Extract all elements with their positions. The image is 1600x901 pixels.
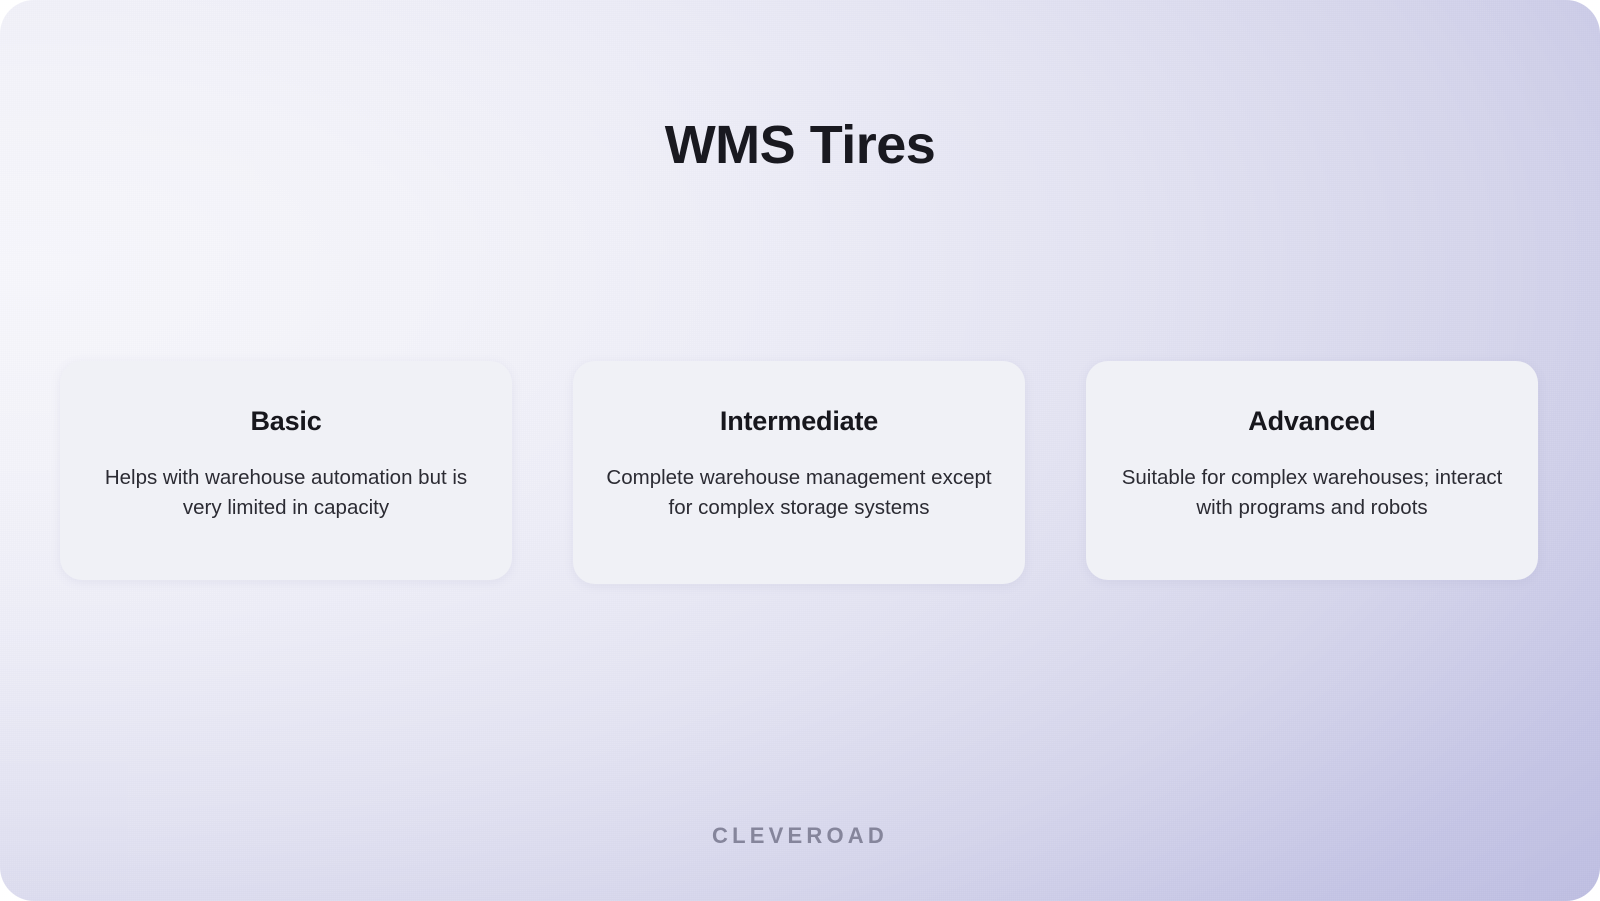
tier-card-description: Suitable for complex warehouses; interac… (1114, 463, 1510, 523)
footer: CLEVEROAD (0, 823, 1600, 849)
tier-card-list: Basic Helps with warehouse automation bu… (60, 361, 1538, 584)
tier-card-title: Advanced (1114, 407, 1510, 437)
tier-card-advanced: Advanced Suitable for complex warehouses… (1086, 361, 1538, 580)
tier-card-title: Basic (88, 407, 484, 437)
cleveroad-logo: CLEVEROAD (712, 823, 888, 848)
tier-card-intermediate: Intermediate Complete warehouse manageme… (573, 361, 1025, 584)
tier-card-description: Helps with warehouse automation but is v… (88, 463, 484, 523)
slide-canvas: WMS Tires Basic Helps with warehouse aut… (0, 0, 1600, 901)
tier-card-basic: Basic Helps with warehouse automation bu… (60, 361, 512, 580)
tier-card-description: Complete warehouse management except for… (601, 463, 997, 523)
tier-card-title: Intermediate (601, 407, 997, 437)
page-title: WMS Tires (0, 114, 1600, 176)
